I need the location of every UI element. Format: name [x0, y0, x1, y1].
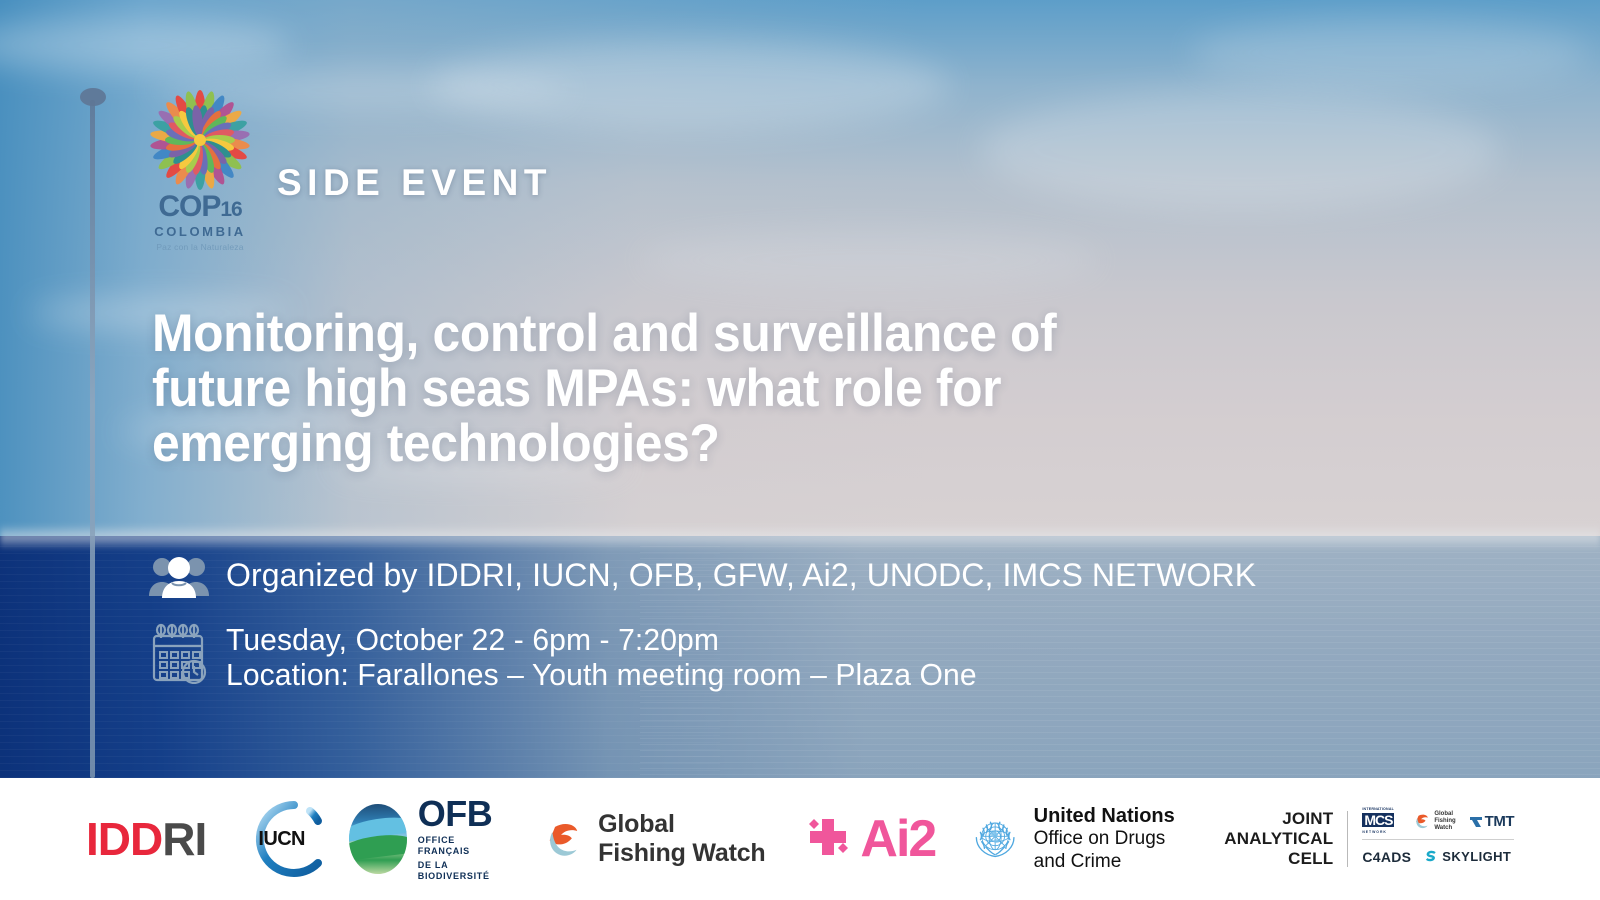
jac-line-1: JOINT	[1224, 809, 1333, 829]
jac-wordmark: JOINT ANALYTICAL CELL	[1224, 809, 1333, 869]
tmt-mark-icon	[1469, 815, 1483, 829]
skylight-mark-icon	[1424, 850, 1438, 864]
cloud-shape	[1190, 18, 1590, 88]
title-line-2: future high seas MPAs: what role for	[152, 361, 1299, 416]
calendar-clock-icon	[150, 622, 208, 684]
partner-logo-bar: IDDRI IUCN	[0, 778, 1600, 900]
ofb-subtitle-1: OFFICE FRANÇAIS	[418, 835, 505, 858]
people-icon	[148, 552, 210, 598]
event-location: Location: Farallones – Youth meeting roo…	[226, 657, 977, 692]
gfw-small-line2: Fishing	[1434, 818, 1455, 825]
iucn-logo: IUCN	[254, 799, 309, 879]
tmt-logo: TMT	[1469, 813, 1514, 830]
gfw-small-line1: Global	[1434, 811, 1455, 818]
ai2-star-icon	[802, 813, 854, 865]
unodc-wordmark: United Nations Office on Drugs and Crime	[1034, 804, 1185, 874]
jac-partner-row-2: C4ADS SKYLIGHT	[1362, 844, 1514, 870]
cop16-flower-icon	[148, 88, 252, 196]
cloud-shape	[640, 230, 1100, 290]
skylight-logo: SKYLIGHT	[1424, 849, 1511, 864]
event-datetime: Tuesday, October 22 - 6pm - 7:20pm	[226, 622, 977, 657]
jac-row-separator	[1362, 839, 1514, 840]
cloud-shape	[430, 40, 950, 130]
global-fishing-watch-logo: Global Fishing Watch	[547, 807, 767, 871]
poster-canvas: COP16 COLOMBIA Paz con la Naturaleza SID…	[0, 0, 1600, 900]
cop16-number: 16	[220, 198, 241, 221]
gfw-small-label: Global Fishing Watch	[1434, 811, 1455, 832]
jac-divider	[1347, 811, 1348, 867]
united-nations-emblem-icon	[971, 803, 1019, 875]
cop16-tagline: Paz con la Naturaleza	[148, 242, 252, 254]
logo-strip: IDDRI IUCN	[0, 796, 1600, 883]
iddri-logo-part2: RI	[162, 813, 206, 865]
iddri-logo: IDDRI	[86, 816, 206, 862]
vertical-rule	[90, 100, 95, 778]
ofb-wordmark: OFB OFFICE FRANÇAIS DE LA BIODIVERSITÉ	[418, 796, 505, 883]
title-line-3: emerging technologies?	[152, 416, 1299, 471]
side-event-kicker: SIDE EVENT	[277, 162, 552, 204]
cop16-wordmark: COP16 COLOMBIA Paz con la Naturaleza	[148, 192, 252, 253]
organizers-row: Organized by IDDRI, IUCN, OFB, GFW, Ai2,…	[148, 552, 1256, 598]
skylight-label: SKYLIGHT	[1442, 849, 1511, 864]
joint-analytical-cell-logo: JOINT ANALYTICAL CELL INTERNATIONAL MCS …	[1224, 809, 1514, 870]
ai2-label: Ai2	[860, 813, 935, 865]
iucn-label: IUCN	[258, 828, 305, 851]
datetime-row: Tuesday, October 22 - 6pm - 7:20pm Locat…	[150, 622, 1000, 693]
gfw-small-fish-icon	[1415, 811, 1431, 831]
jac-line-3: CELL	[1224, 849, 1333, 869]
ofb-acronym: OFB	[418, 796, 505, 832]
iddri-logo-part1: IDD	[86, 813, 162, 865]
cop16-cop-text: COP	[158, 190, 220, 223]
unodc-logo: United Nations Office on Drugs and Crime	[971, 803, 1184, 875]
gfw-fish-icon	[547, 807, 585, 871]
ofb-subtitle-2: DE LA BIODIVERSITÉ	[418, 860, 505, 883]
imcs-bottom-text: NETWORK	[1362, 830, 1402, 834]
ofb-logo: OFB OFFICE FRANÇAIS DE LA BIODIVERSITÉ	[349, 796, 505, 883]
cloud-shape	[980, 90, 1500, 210]
jac-partner-row-1: INTERNATIONAL MCS NETWORK Global Fi	[1362, 809, 1514, 835]
imcs-mid-text: MCS	[1362, 813, 1394, 827]
c4ads-label: C4ADS	[1362, 849, 1411, 865]
ai2-logo: Ai2	[802, 813, 935, 865]
cop16-country: COLOMBIA	[148, 222, 252, 242]
jac-partner-logos: INTERNATIONAL MCS NETWORK Global Fi	[1362, 809, 1514, 870]
unodc-line-2: Office on Drugs and Crime	[1034, 828, 1185, 874]
title-line-1: Monitoring, control and surveillance of	[152, 306, 1299, 361]
page-title: Monitoring, control and surveillance of …	[152, 306, 1299, 471]
imcs-network-logo: INTERNATIONAL MCS NETWORK	[1362, 808, 1402, 834]
tmt-label: TMT	[1485, 813, 1514, 830]
gfw-label: Global Fishing Watch	[598, 810, 766, 868]
cop16-logo: COP16 COLOMBIA Paz con la Naturaleza	[148, 88, 252, 258]
unodc-line-1: United Nations	[1034, 804, 1185, 828]
organizers-text: Organized by IDDRI, IUCN, OFB, GFW, Ai2,…	[226, 557, 1256, 594]
gfw-small-line3: Watch	[1434, 825, 1455, 832]
ofb-mark-icon	[349, 804, 407, 874]
jac-line-2: ANALYTICAL	[1224, 829, 1333, 849]
gfw-small-logo: Global Fishing Watch	[1415, 811, 1455, 832]
horizon-haze	[0, 524, 1600, 550]
datetime-text: Tuesday, October 22 - 6pm - 7:20pm Locat…	[226, 622, 977, 693]
